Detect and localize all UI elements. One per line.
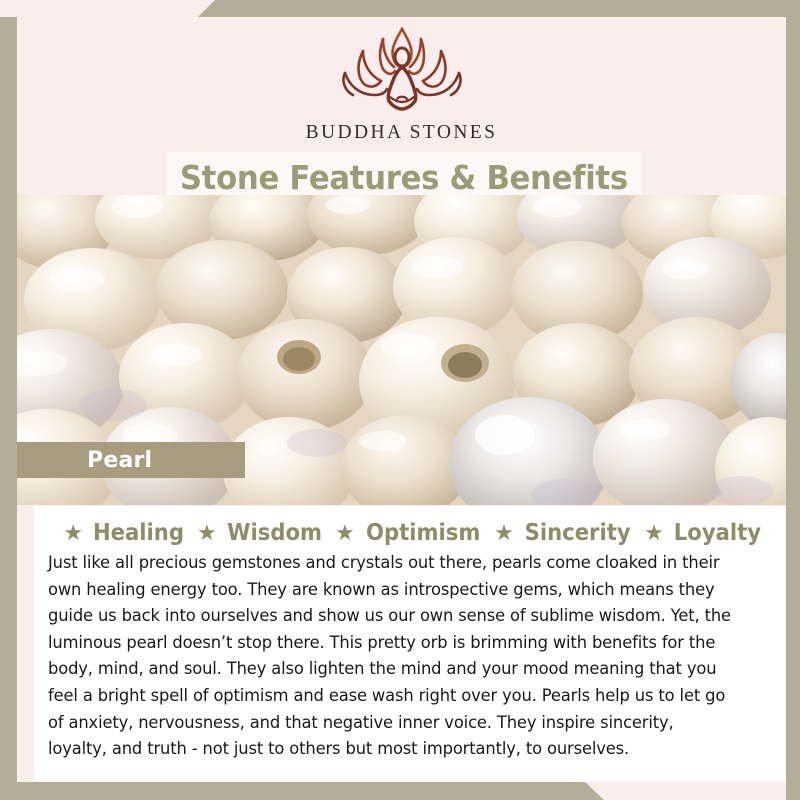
star-icon: ★ [644,522,664,544]
benefit-keyword-label: Optimism [366,520,480,546]
page-surface: BUDDHA STONES Stone Features & Benefits [17,17,786,782]
brand-name: BUDDHA STONES [17,122,786,144]
brand-logo-block: BUDDHA STONES [17,25,786,144]
star-icon: ★ [63,522,83,544]
benefit-keyword: ★ Optimism [335,520,485,546]
benefit-keyword: ★ Sincerity [494,520,635,546]
poster-root: BUDDHA STONES Stone Features & Benefits [0,0,800,800]
benefit-keyword-label: Healing [93,520,184,546]
benefit-keyword-label: Loyalty [674,520,761,546]
description-text: Just like all precious gemstones and cry… [48,550,732,763]
benefit-keyword: ★ Healing [63,520,188,546]
frame-border-right [786,0,800,800]
star-icon: ★ [494,522,514,544]
frame-border-bottom [0,782,800,800]
stone-name-label: Pearl [87,448,152,473]
star-icon: ★ [335,522,355,544]
lotus-meditation-figure-icon [327,25,477,117]
benefit-keyword: ★ Loyalty [644,520,765,546]
benefit-keyword-label: Sincerity [524,520,630,546]
stone-name-bar: Pearl [17,442,245,478]
benefit-keyword-label: Wisdom [227,520,322,546]
star-icon: ★ [197,522,217,544]
page-title: Stone Features & Benefits [180,158,628,197]
frame-border-left [0,17,17,800]
benefit-keyword: ★ Wisdom [197,520,326,546]
content-panel: ★ Healing ★ Wisdom ★ Optimism ★ Sincerit… [34,506,786,782]
frame-border-top [0,0,800,17]
benefit-keyword-list: ★ Healing ★ Wisdom ★ Optimism ★ Sincerit… [34,506,786,546]
